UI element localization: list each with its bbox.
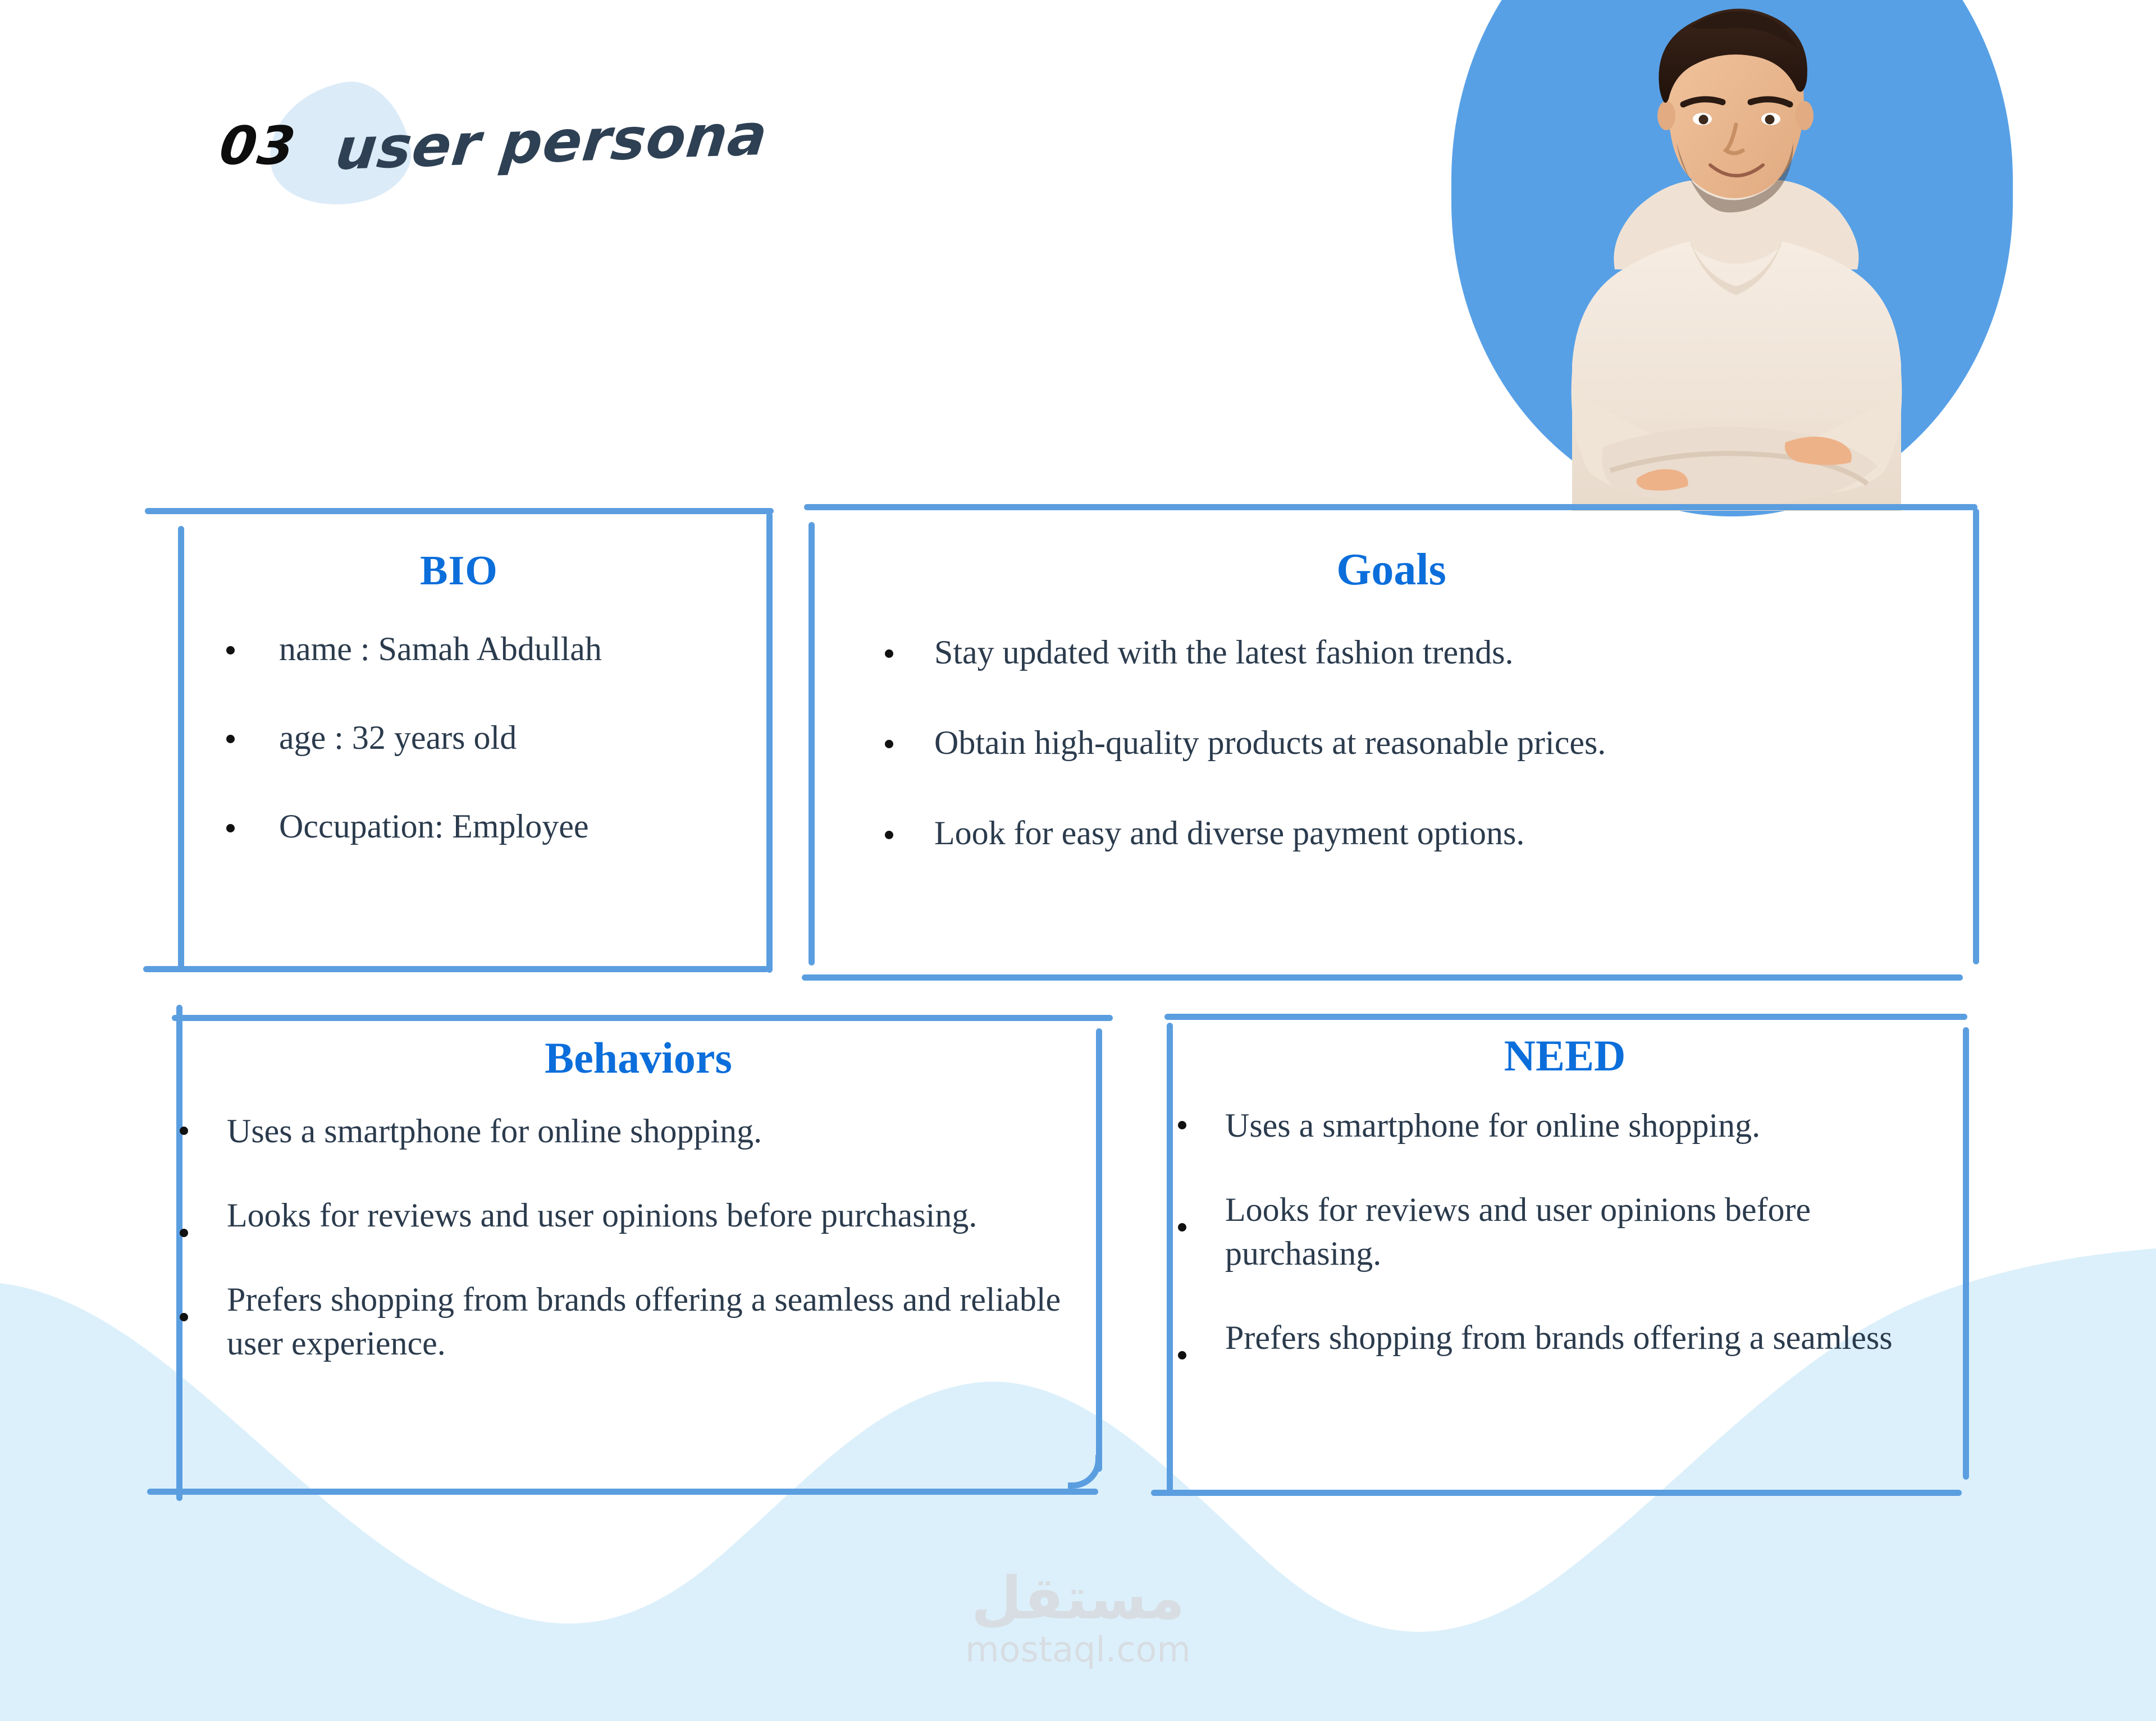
list-item-text: Uses a smartphone for online shopping. (1225, 1104, 1964, 1147)
slide-header: 03 user persona (0, 0, 1460, 236)
bullet-icon (1178, 1121, 1186, 1129)
list-item-text: Obtain high-quality products at reasonab… (934, 722, 1940, 763)
persona-board: BIO name : Samah Abdullah age : 32 years… (0, 0, 2156, 1721)
list-item: Occupation: Employee (226, 806, 743, 847)
card-border-top (172, 1015, 1113, 1021)
list-item: Prefers shopping from brands offering a … (1178, 1316, 1964, 1360)
card-border-left (1167, 1023, 1173, 1492)
list-item-text: Look for easy and diverse payment option… (934, 813, 1940, 854)
list-item-text: Uses a smartphone for online shopping. (227, 1109, 1089, 1153)
goals-list: Stay updated with the latest fashion tre… (885, 632, 1940, 904)
list-item-text: name : Samah Abdullah (279, 629, 743, 670)
persona-card-behaviors: Behaviors Uses a smartphone for online s… (164, 1015, 1113, 1499)
list-item: Stay updated with the latest fashion tre… (885, 632, 1940, 673)
persona-card-bio: BIO name : Samah Abdullah age : 32 years… (143, 508, 775, 971)
card-title-need: NEED (1160, 1031, 1970, 1081)
bullet-icon (885, 831, 893, 839)
list-item-text: Prefers shopping from brands offering a … (227, 1278, 1089, 1365)
bullet-icon (226, 735, 235, 743)
card-corner-rounded (1068, 1455, 1102, 1489)
card-title-bio: BIO (143, 547, 775, 595)
bullet-icon (885, 740, 893, 748)
bullet-icon (885, 649, 893, 658)
list-item-text: age : 32 years old (279, 717, 743, 758)
bullet-icon (180, 1313, 188, 1321)
card-border-top (804, 504, 1977, 510)
card-border-top (145, 508, 774, 514)
bullet-icon (180, 1229, 188, 1237)
list-item: name : Samah Abdullah (226, 629, 743, 670)
list-item: Obtain high-quality products at reasonab… (885, 722, 1940, 763)
persona-card-need: NEED Uses a smartphone for online shoppi… (1160, 1014, 1970, 1500)
card-border-bottom (1151, 1490, 1962, 1496)
bullet-icon (1178, 1351, 1186, 1360)
card-title-goals: Goals (802, 544, 1981, 596)
list-item: Looks for reviews and user opinions befo… (180, 1193, 1089, 1237)
list-item-text: Prefers shopping from brands offering a … (1225, 1316, 1964, 1360)
list-item: Uses a smartphone for online shopping. (180, 1109, 1089, 1153)
list-item-text: Looks for reviews and user opinions befo… (227, 1193, 1089, 1237)
card-border-bottom (147, 1489, 1098, 1495)
list-item: Prefers shopping from brands offering a … (180, 1278, 1089, 1365)
behaviors-list: Uses a smartphone for online shopping. L… (180, 1109, 1089, 1406)
list-item-text: Stay updated with the latest fashion tre… (934, 632, 1940, 673)
list-item-text: Looks for reviews and user opinions befo… (1225, 1188, 1964, 1275)
bullet-icon (226, 646, 235, 654)
card-border-bottom (143, 966, 769, 972)
section-number: 03 (216, 116, 299, 177)
list-item: Uses a smartphone for online shopping. (1178, 1104, 1964, 1147)
card-border-right (1096, 1028, 1102, 1472)
bullet-icon (180, 1127, 188, 1135)
list-item: Look for easy and diverse payment option… (885, 813, 1940, 854)
bullet-icon (1178, 1223, 1186, 1232)
list-item-text: Occupation: Employee (279, 806, 743, 847)
page-title: user persona (332, 102, 771, 184)
card-border-top (1164, 1014, 1967, 1020)
bullet-icon (226, 824, 235, 832)
need-list: Uses a smartphone for online shopping. L… (1178, 1104, 1964, 1400)
list-item: Looks for reviews and user opinions befo… (1178, 1188, 1964, 1275)
persona-card-goals: Goals Stay updated with the latest fashi… (802, 504, 1981, 981)
bio-list: name : Samah Abdullah age : 32 years old… (226, 629, 743, 895)
list-item: age : 32 years old (226, 717, 743, 758)
card-border-bottom (802, 974, 1963, 981)
card-title-behaviors: Behaviors (164, 1033, 1113, 1083)
